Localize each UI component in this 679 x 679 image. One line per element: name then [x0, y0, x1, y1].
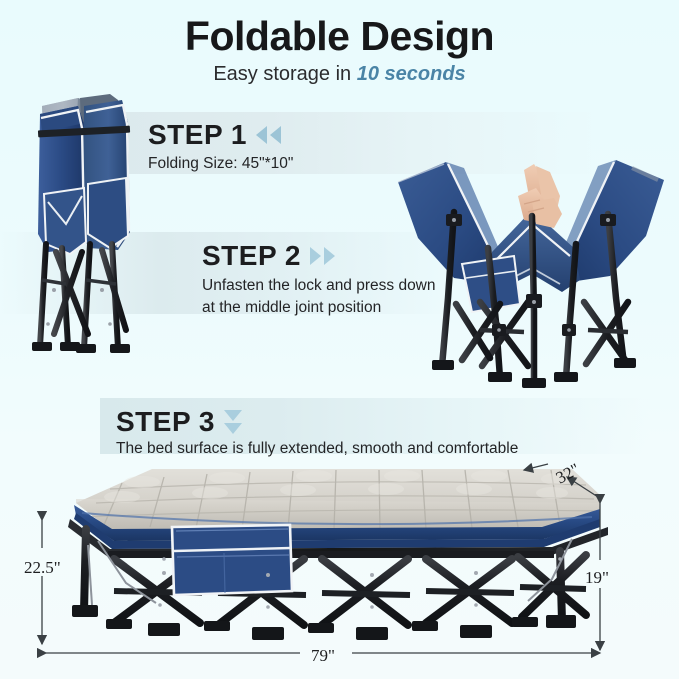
step-1-heading: STEP 1 [148, 119, 281, 151]
dimension-label-total-height: 22.5" [24, 558, 61, 578]
step-2-description: Unfasten the lock and press down at the … [202, 275, 436, 320]
step-2-label: STEP 2 [202, 240, 301, 272]
triangle-left-icon [270, 126, 281, 144]
triangle-down-icon [224, 410, 242, 421]
extended-cot-image [52, 455, 622, 650]
step-3-label: STEP 3 [116, 406, 215, 438]
step-2-heading: STEP 2 [202, 240, 335, 272]
step-3-description: The bed surface is fully extended, smoot… [116, 438, 518, 460]
page-title: Foldable Design [0, 13, 679, 60]
subtitle-prefix: Easy storage in [213, 63, 356, 85]
step-3-arrow-icons [224, 410, 242, 434]
dimension-label-length: 79" [311, 646, 335, 666]
step-2-description-line-1: Unfasten the lock and press down [202, 275, 436, 297]
dimension-label-bed-height: 19" [585, 568, 609, 588]
page-subtitle: Easy storage in 10 seconds [0, 63, 679, 86]
infographic-canvas: Foldable Design Easy storage in 10 secon… [0, 0, 679, 679]
step-3-heading: STEP 3 [116, 406, 242, 438]
triangle-down-icon [224, 423, 242, 434]
triangle-right-icon [324, 247, 335, 265]
folded-cot-upright-image [18, 84, 158, 369]
step-1-arrow-icons [256, 126, 281, 144]
triangle-left-icon [256, 126, 267, 144]
step-2-description-line-2: at the middle joint position [202, 297, 436, 319]
step-1-label: STEP 1 [148, 119, 247, 151]
step-1-description: Folding Size: 45"*10" [148, 153, 293, 175]
triangle-right-icon [310, 247, 321, 265]
step-2-arrow-icons [310, 247, 335, 265]
subtitle-highlight: 10 seconds [357, 63, 466, 85]
